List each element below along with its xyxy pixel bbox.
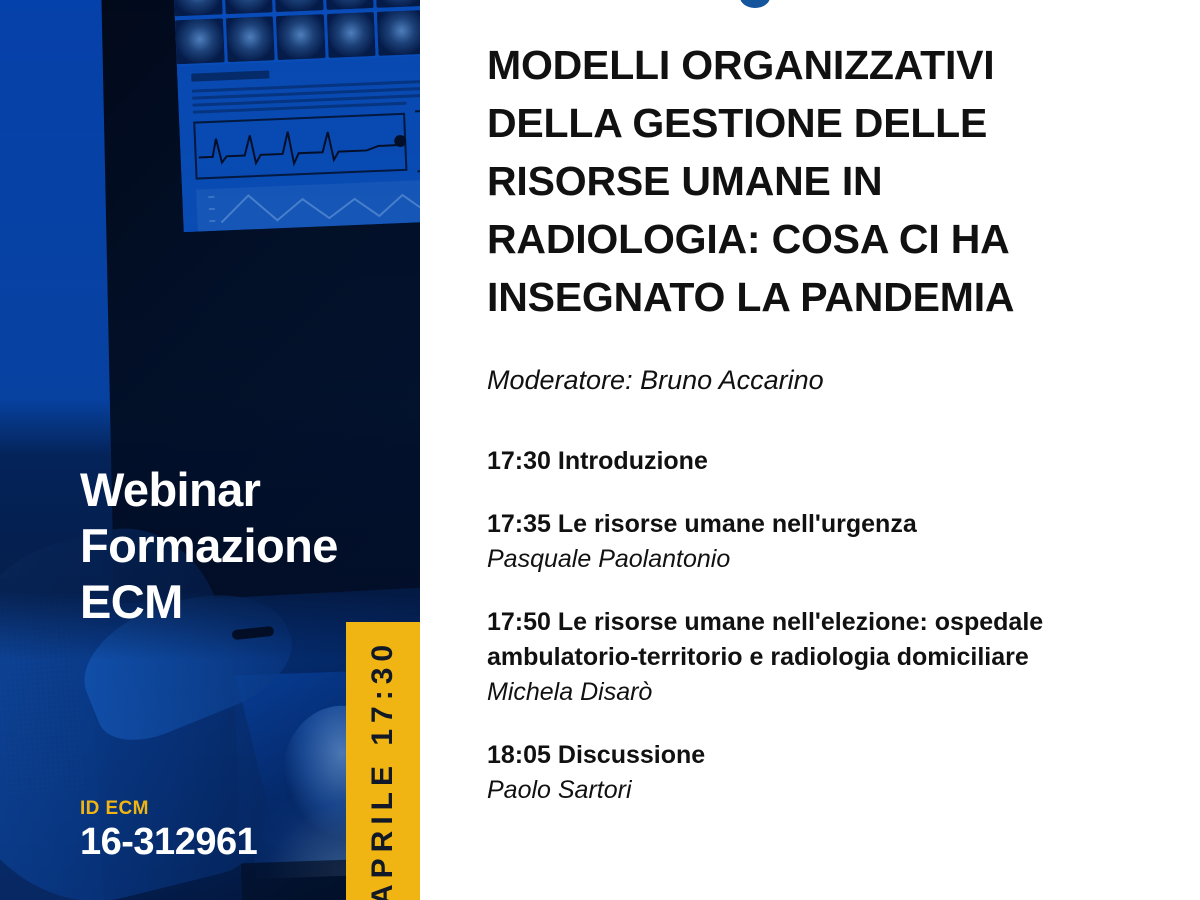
agenda-item: 17:50 Le risorse umane nell'elezione: os…	[487, 605, 1147, 710]
webinar-title-block: Webinar Formazione ECM	[80, 462, 400, 630]
agenda-list: 17:30 Introduzione 17:35 Le risorse uman…	[487, 444, 1147, 808]
date-time-label: APRILE 17:30	[368, 639, 398, 900]
agenda-item-speaker: Paolo Sartori	[487, 773, 1147, 808]
agenda-item-heading: 17:35 Le risorse umane nell'urgenza	[487, 507, 1147, 542]
right-content-panel: MODELLI ORGANIZZATIVI DELLA GESTIONE DEL…	[420, 0, 1200, 900]
agenda-item-heading: 18:05 Discussione	[487, 738, 1147, 773]
agenda-item: 18:05 Discussione Paolo Sartori	[487, 738, 1147, 808]
agenda-item-speaker: Pasquale Paolantonio	[487, 542, 1147, 577]
webinar-poster: Webinar Formazione ECM ID ECM 16-312961 …	[0, 0, 1200, 900]
webinar-title: Webinar Formazione ECM	[80, 462, 400, 630]
left-panel: Webinar Formazione ECM ID ECM 16-312961 …	[0, 0, 420, 900]
session-title: MODELLI ORGANIZZATIVI DELLA GESTIONE DEL…	[487, 36, 1087, 326]
agenda-item: 17:35 Le risorse umane nell'urgenza Pasq…	[487, 507, 1147, 577]
ecm-id-label: ID ECM	[80, 798, 257, 820]
agenda-item: 17:30 Introduzione	[487, 444, 1147, 479]
logo-mark-icon	[740, 0, 770, 8]
agenda-item-speaker: Michela Disarò	[487, 675, 1147, 710]
ecm-id-block: ID ECM 16-312961	[80, 798, 257, 864]
date-time-band: APRILE 17:30	[346, 622, 420, 900]
ecm-id-value: 16-312961	[80, 820, 257, 864]
agenda-item-heading: 17:30 Introduzione	[487, 444, 1147, 479]
agenda-item-heading: 17:50 Le risorse umane nell'elezione: os…	[487, 605, 1147, 675]
moderator-line: Moderatore: Bruno Accarino	[487, 362, 824, 398]
